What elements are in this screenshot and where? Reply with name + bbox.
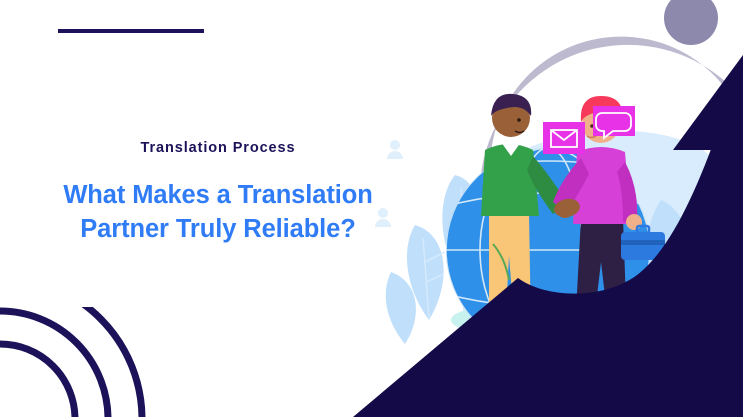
illustration-global-partnership: [343, 0, 743, 417]
gray-circle-decoration: [664, 0, 718, 45]
slide-banner: Translation Process What Makes a Transla…: [0, 0, 743, 417]
arc-inner: [0, 344, 75, 417]
arc-middle: [0, 311, 108, 417]
top-rule-decoration: [58, 29, 204, 33]
badge-envelope: [543, 122, 585, 154]
badge-chat: [593, 106, 635, 138]
person-marker: [375, 208, 391, 227]
arc-outer: [0, 307, 142, 417]
corner-arcs-decoration: [0, 307, 170, 417]
person-marker: [387, 140, 403, 159]
